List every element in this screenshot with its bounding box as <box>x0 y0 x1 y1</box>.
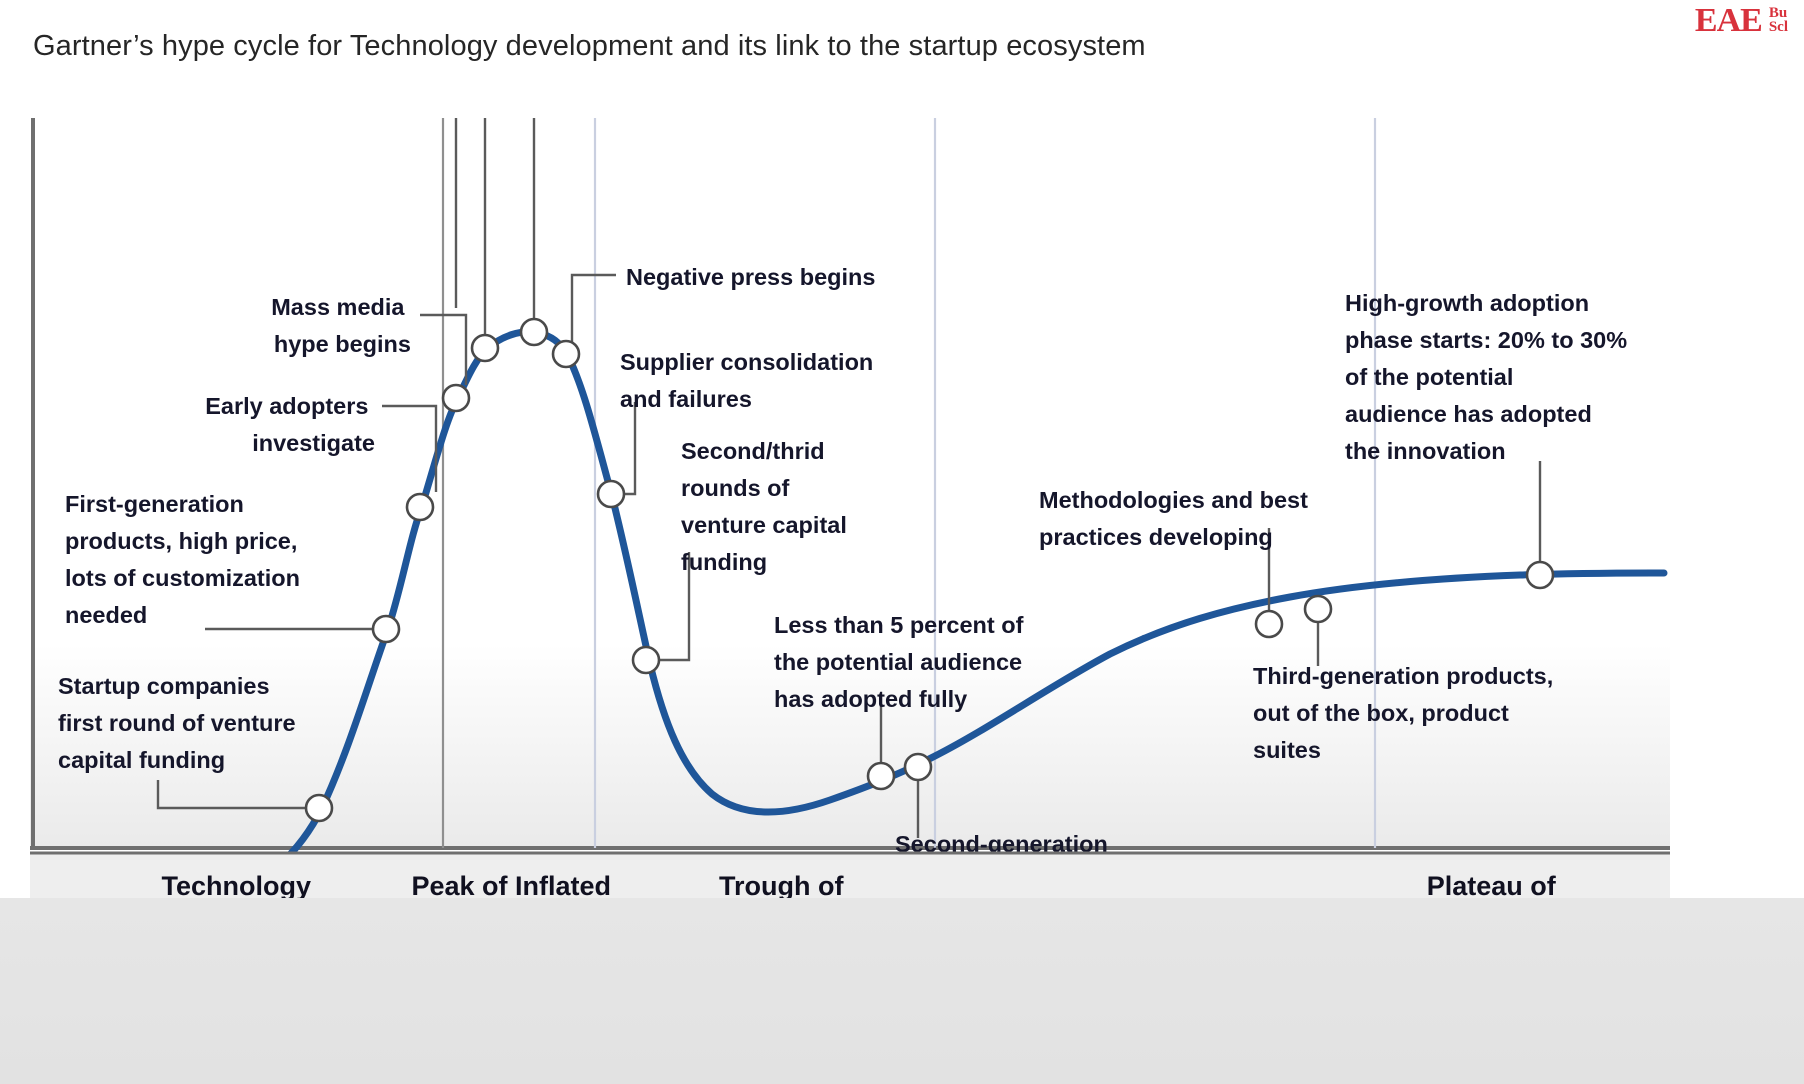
marker-startup-funding[interactable] <box>306 795 332 821</box>
marker-early-adopters[interactable] <box>407 494 433 520</box>
stage-label-plateau-of-productivity: Plateau of Productivity <box>1417 871 1573 898</box>
marker-second-third-vc[interactable] <box>633 647 659 673</box>
marker-third-gen[interactable] <box>1305 596 1331 622</box>
stage-label-band: Technology Trigger Peak of Inflated Expe… <box>30 852 1680 898</box>
page-title: Gartner’s hype cycle for Technology deve… <box>33 30 1146 63</box>
marker-supplier-consol[interactable] <box>598 481 624 507</box>
stage-label-technology-trigger: Technology Trigger <box>161 871 318 898</box>
stage-label-slope-of-enlightenment: Slope of Enlightenment <box>1009 894 1311 898</box>
annotation-negative-press: Negative press begins <box>626 264 875 290</box>
marker-mass-media[interactable] <box>443 385 469 411</box>
hype-cycle-chart: Mass media hype begins Early adopters in… <box>0 108 1804 898</box>
marker-first-gen[interactable] <box>373 616 399 642</box>
logo-mark: EAE <box>1695 4 1762 38</box>
brand-logo: EAE Bu Scl <box>1695 4 1788 38</box>
marker-peak-b[interactable] <box>521 319 547 345</box>
marker-high-growth[interactable] <box>1527 562 1553 588</box>
logo-subtext-line2: Scl <box>1769 19 1788 35</box>
stage-label-peak-of-inflated-expectations: Peak of Inflated Expectations <box>411 871 618 898</box>
marker-methodologies[interactable] <box>1256 611 1282 637</box>
marker-negative-press[interactable] <box>553 341 579 367</box>
footer-strip <box>0 898 1804 1084</box>
marker-second-gen[interactable] <box>905 754 931 780</box>
plot-background <box>30 118 1670 848</box>
marker-peak-a[interactable] <box>472 335 498 361</box>
logo-subtext: Bu Scl <box>1769 4 1788 35</box>
marker-less-than-5[interactable] <box>868 763 894 789</box>
